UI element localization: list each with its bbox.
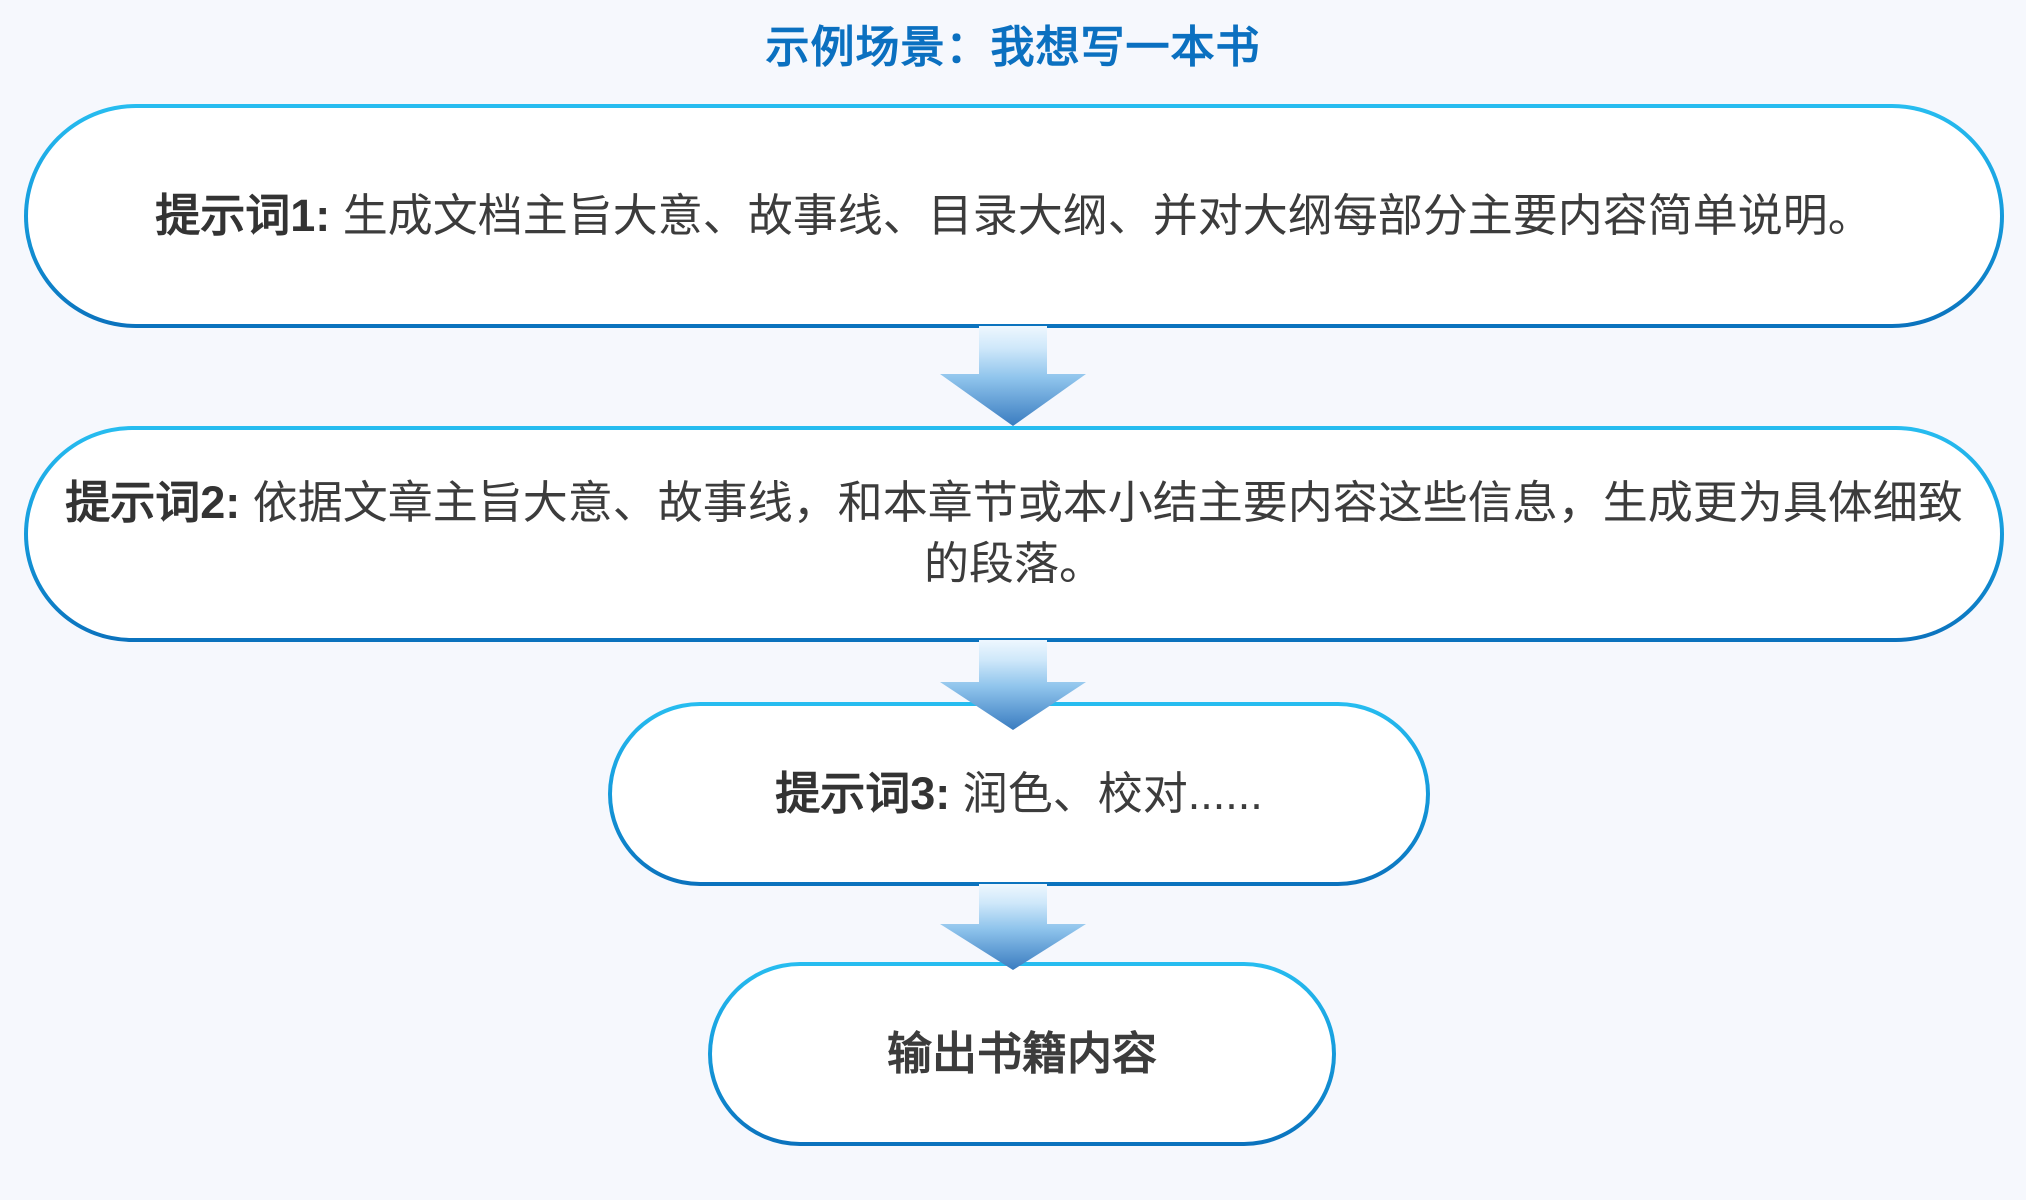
arrow-down-icon-3 [940,884,1086,970]
flow-node-output[interactable]: 输出书籍内容 [712,966,1332,1142]
flow-node-lead: 提示词3: [775,768,950,819]
flow-node-text: 输出书籍内容 [746,1024,1298,1085]
flow-node-body: 生成文档主旨大意、故事线、目录大纲、并对大纲每部分主要内容简单说明。 [330,190,1873,241]
flow-node-text: 提示词1: 生成文档主旨大意、故事线、目录大纲、并对大纲每部分主要内容简单说明。 [62,186,1966,247]
flow-node-body: 润色、校对...... [950,768,1263,819]
flow-node-prompt-3[interactable]: 提示词3: 润色、校对...... [612,706,1426,882]
flow-node-text: 提示词3: 润色、校对...... [646,764,1392,825]
flow-node-prompt-1[interactable]: 提示词1: 生成文档主旨大意、故事线、目录大纲、并对大纲每部分主要内容简单说明。 [28,108,2000,324]
arrow-down-icon-2 [940,640,1086,730]
arrow-down-icon-1 [940,326,1086,426]
flow-node-text: 提示词2: 依据文章主旨大意、故事线，和本章节或本小结主要内容这些信息，生成更为… [62,473,1966,595]
flow-node-lead: 提示词1: [155,190,330,241]
flow-node-body: 依据文章主旨大意、故事线，和本章节或本小结主要内容这些信息，生成更为具体细致的段… [240,477,1963,589]
diagram-title: 示例场景：我想写一本书 [0,22,2026,75]
flow-node-lead: 提示词2: [65,477,240,528]
flow-node-prompt-2[interactable]: 提示词2: 依据文章主旨大意、故事线，和本章节或本小结主要内容这些信息，生成更为… [28,430,2000,638]
flow-node-body: 输出书籍内容 [887,1028,1157,1079]
diagram-canvas: 示例场景：我想写一本书 提示词1: 生成文档主旨大意、故事线、目录大纲、并对大纲… [0,0,2026,1200]
